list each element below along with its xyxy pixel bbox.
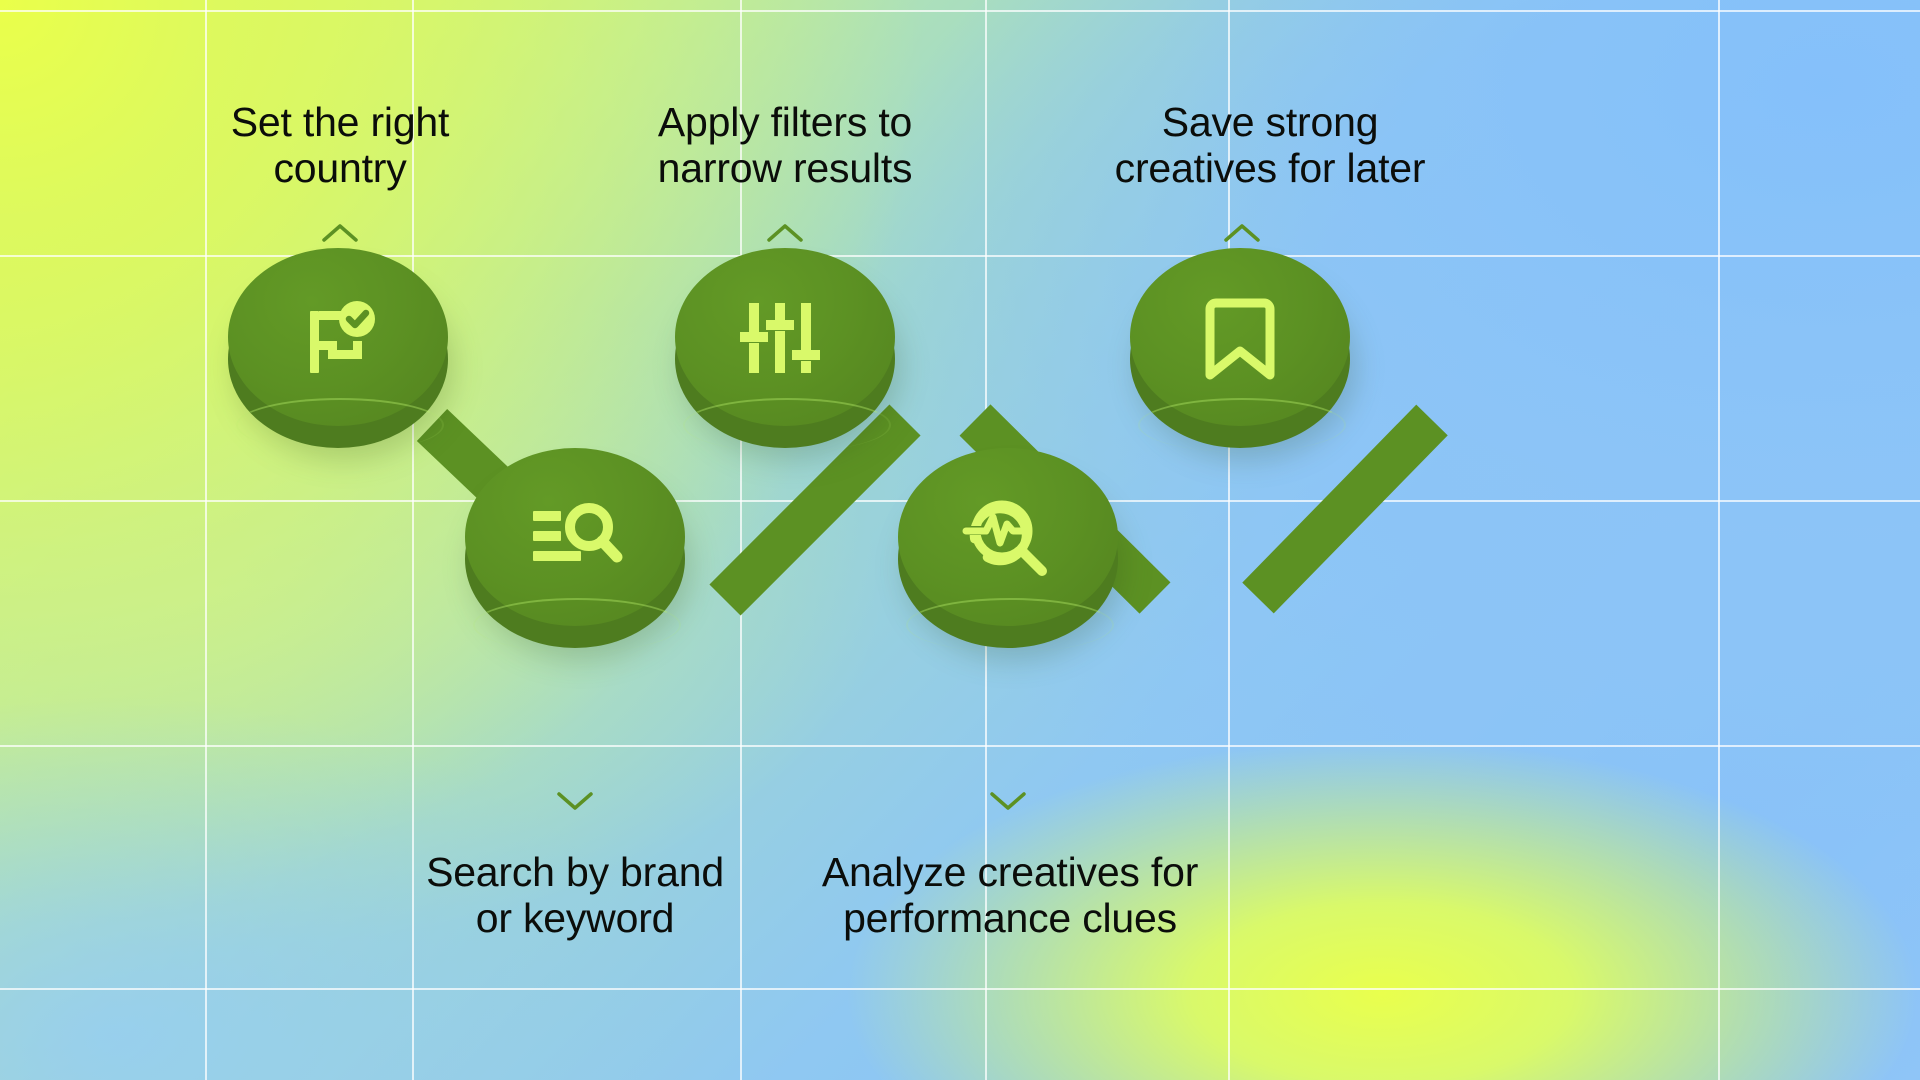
chevron-down-icon	[555, 790, 595, 812]
process-flow: Set the right country	[0, 0, 1920, 1080]
step-4-caption: Analyze creatives for performance clues	[760, 850, 1260, 942]
chevron-up-icon	[765, 222, 805, 244]
chevron-up-icon	[1222, 222, 1262, 244]
step-3-caption: Apply filters to narrow results	[565, 100, 1005, 192]
flag-check-icon	[228, 248, 448, 426]
step-2-caption: Search by brand or keyword	[350, 850, 800, 942]
infographic-canvas: Set the right country	[0, 0, 1920, 1080]
step-4-node[interactable]	[898, 448, 1118, 648]
step-5-node[interactable]	[1130, 248, 1350, 448]
search-list-icon	[465, 448, 685, 626]
bookmark-icon	[1130, 248, 1350, 426]
step-3-node[interactable]	[675, 248, 895, 448]
chevron-up-icon	[320, 222, 360, 244]
step-1-caption: Set the right country	[120, 100, 560, 192]
step-2-node[interactable]	[465, 448, 685, 648]
step-1-node[interactable]	[228, 248, 448, 448]
step-5-caption: Save strong creatives for later	[1015, 100, 1525, 192]
chevron-down-icon	[988, 790, 1028, 812]
analyze-pulse-search-icon	[898, 448, 1118, 626]
sliders-filter-icon	[675, 248, 895, 426]
